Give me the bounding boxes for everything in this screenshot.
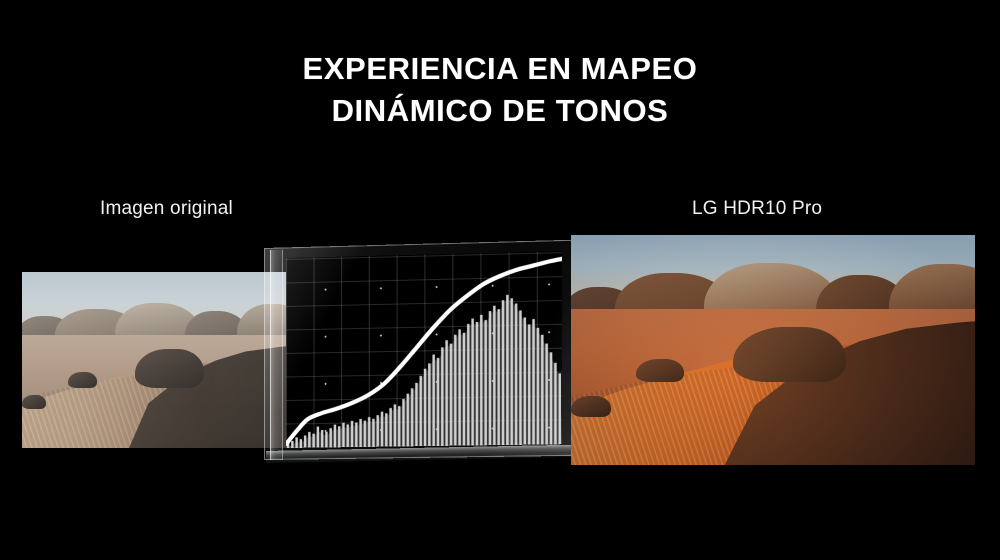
caption-lg-hdr10-pro: LG HDR10 Pro xyxy=(692,198,822,220)
image-original-desert xyxy=(22,272,290,448)
scene-hdr xyxy=(571,235,975,465)
hdr-tone-mapping-banner: EXPERIENCIA EN MAPEO DINÁMICO DE TONOS I… xyxy=(0,0,1000,560)
color-grade-hdr xyxy=(571,235,975,465)
glass-left-edge xyxy=(270,250,283,460)
scene-original xyxy=(22,272,290,448)
tone-curve-plot xyxy=(286,251,562,448)
caption-original-image: Imagen original xyxy=(100,198,233,220)
image-lg-hdr10-pro-desert xyxy=(571,235,975,465)
page-title-line-2: DINÁMICO DE TONOS xyxy=(0,90,1000,132)
tone-mapping-glass-panel xyxy=(264,248,576,460)
color-grade-original xyxy=(22,272,290,448)
page-title: EXPERIENCIA EN MAPEO DINÁMICO DE TONOS xyxy=(0,48,1000,132)
page-title-line-1: EXPERIENCIA EN MAPEO xyxy=(0,48,1000,90)
tone-mapping-curve xyxy=(286,251,562,448)
